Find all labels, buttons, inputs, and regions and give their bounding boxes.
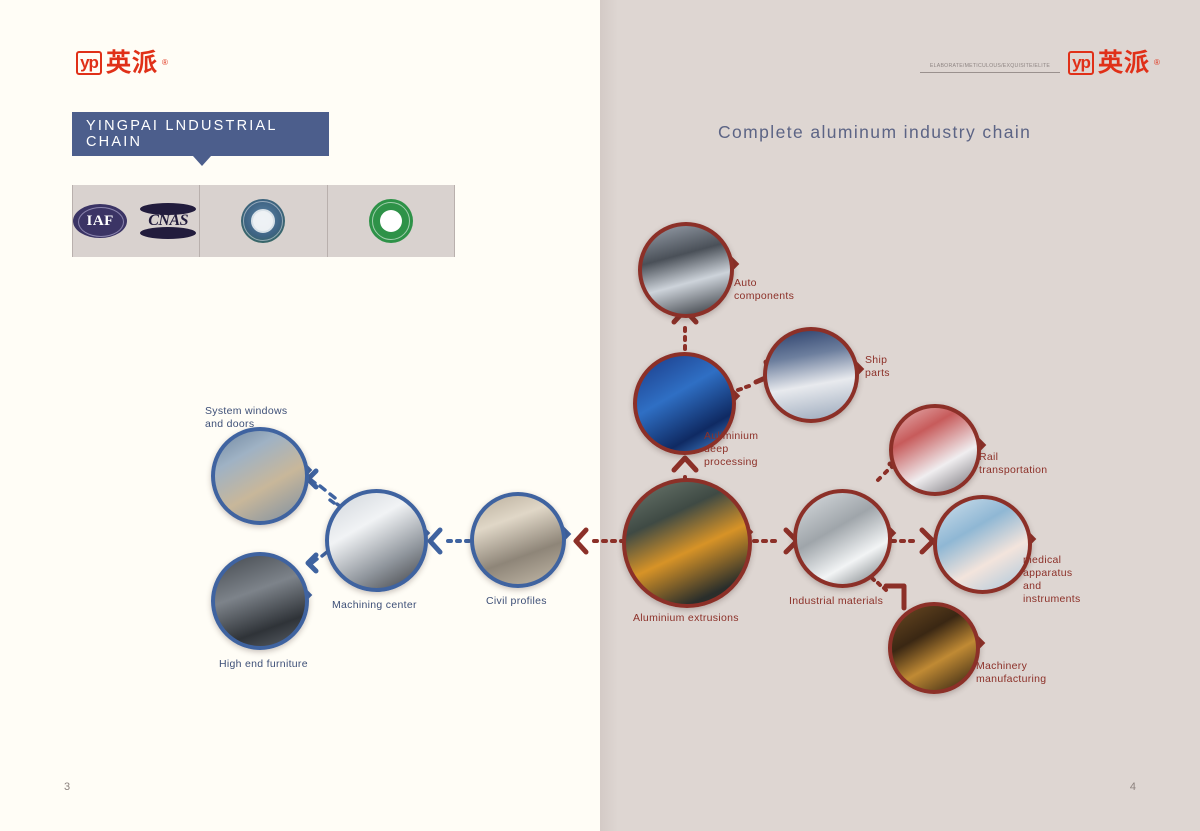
connector-extrusions-to-civil (570, 522, 628, 562)
node-label-aluminium-extrusions: Aluminium extrusions (633, 612, 739, 625)
node-label-system-windows: System windows and doors (205, 405, 309, 431)
brand-tagline: ELABORATE/METICULOUS/EXQUISITE/ELITE (920, 63, 1060, 69)
node-image-machining-center (325, 489, 428, 592)
page-number-left: 3 (64, 781, 70, 793)
node-label-auto-components: Auto components (734, 277, 794, 303)
green-seal-icon (369, 199, 413, 243)
company-logo-left: yp 英派 ® (76, 50, 168, 75)
node-label-deep-processing: Auliminium deep processing (704, 430, 758, 469)
node-image-machinery-manufacturing (888, 602, 980, 694)
node-rail-transportation[interactable]: Rail transportation (889, 404, 981, 496)
node-label-industrial-materials: Industrial materials (789, 595, 883, 608)
node-system-windows-and-doors[interactable]: System windows and doors (211, 427, 309, 525)
node-label-high-end-furniture: High end furniture (219, 658, 308, 671)
node-aluminium-extrusions[interactable]: Aluminium extrusions (622, 478, 752, 608)
cert-cell-iaf-cnas: IAF CNAS (72, 185, 200, 257)
node-image-medical-apparatus (933, 495, 1032, 594)
banner-notch-icon (193, 156, 211, 166)
iaf-seal-icon: IAF (73, 204, 127, 238)
node-image-auto-components (638, 222, 734, 318)
node-medical-apparatus[interactable]: medical apparatus and instruments (933, 495, 1032, 594)
node-image-rail-transportation (889, 404, 981, 496)
cert-cell-green-seal (328, 185, 455, 257)
logo-chinese-name: 英派 (106, 50, 158, 75)
node-label-civil-profiles: Civil profiles (486, 595, 547, 608)
node-label-rail-transportation: Rail transportation (979, 451, 1047, 477)
node-image-system-windows (211, 427, 309, 525)
node-civil-profiles[interactable]: Civil profiles (470, 492, 566, 588)
node-auto-components[interactable]: Auto components (638, 222, 734, 318)
node-high-end-furniture[interactable]: High end furniture (211, 552, 309, 650)
node-aluminium-deep-processing[interactable]: Auliminium deep processing (633, 352, 736, 455)
blue-green-seal-icon (241, 199, 285, 243)
registered-trademark-icon: ® (1154, 59, 1160, 67)
cert-cell-national-seal (200, 185, 327, 257)
node-industrial-materials[interactable]: Industrial materials (793, 489, 892, 588)
node-image-industrial-materials (793, 489, 892, 588)
node-label-machinery-manufacturing: Machinery manufacturing (976, 660, 1046, 686)
iaf-label: IAF (86, 213, 113, 230)
cnas-label: CNAS (148, 212, 188, 230)
left-banner-title: YINGPAI LNDUSTRIAL CHAIN (72, 112, 329, 156)
right-page-title: Complete aluminum industry chain (718, 122, 1031, 143)
node-label-medical-apparatus: medical apparatus and instruments (1023, 554, 1081, 606)
node-image-aluminium-extrusions (622, 478, 752, 608)
node-machinery-manufacturing[interactable]: Machinery manufacturing (888, 602, 980, 694)
logo-mark-icon: yp (1068, 51, 1094, 75)
node-ship-parts[interactable]: Ship parts (763, 327, 859, 423)
node-label-ship-parts: Ship parts (865, 354, 890, 380)
tagline-divider (920, 72, 1060, 73)
logo-chinese-name: 英派 (1098, 50, 1150, 75)
brand-tagline-block: ELABORATE/METICULOUS/EXQUISITE/ELITE (920, 63, 1060, 73)
registered-trademark-icon: ® (162, 59, 168, 67)
certification-strip: IAF CNAS (72, 185, 455, 257)
node-image-ship-parts (763, 327, 859, 423)
page-number-right: 4 (1130, 781, 1136, 793)
node-label-machining-center: Machining center (332, 599, 417, 612)
logo-mark-icon: yp (76, 51, 102, 75)
node-image-high-end-furniture (211, 552, 309, 650)
cnas-seal-icon: CNAS (137, 204, 199, 238)
node-machining-center[interactable]: Machining center (325, 489, 428, 592)
brochure-spread: yp 英派 ® YINGPAI LNDUSTRIAL CHAIN IAF CNA… (0, 0, 1200, 831)
node-image-civil-profiles (470, 492, 566, 588)
company-logo-right: yp 英派 ® (1068, 50, 1160, 75)
